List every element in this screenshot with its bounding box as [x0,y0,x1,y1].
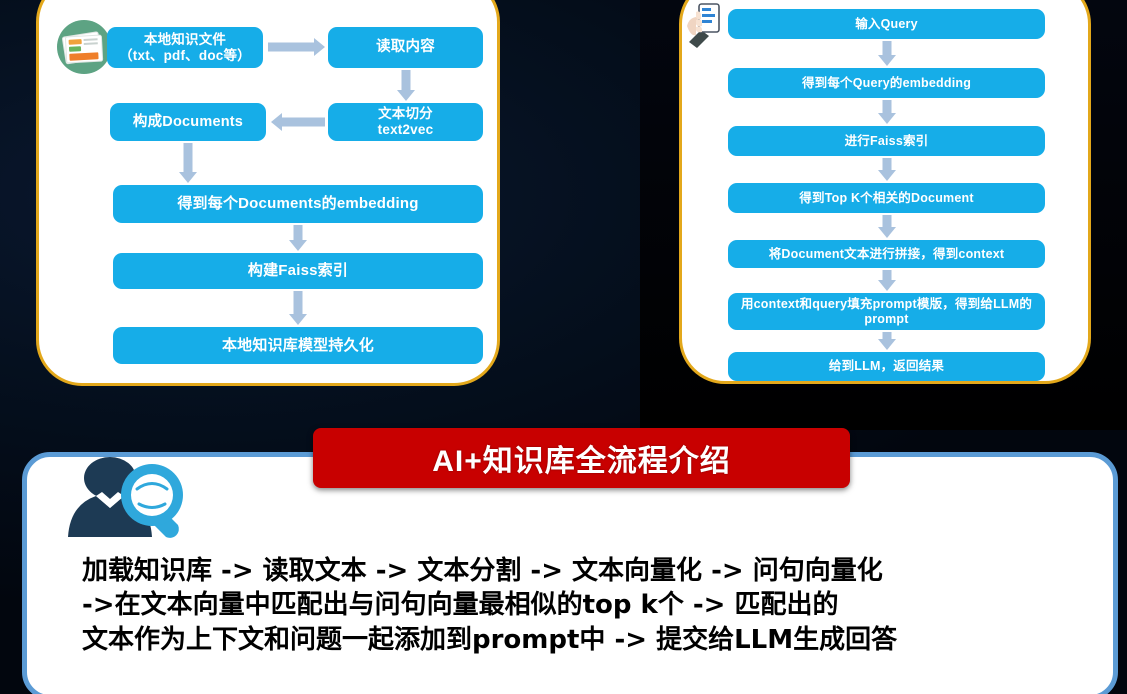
arrow-topk-to-concat-icon [878,215,896,238]
flow-box-label: 文本切分 text2vec [378,106,434,137]
flow-box-topk-documents[interactable]: 得到Top K个相关的Document [728,183,1045,213]
flow-box-text-split[interactable]: 文本切分 text2vec [328,103,483,141]
title-banner: AI+知识库全流程介绍 [313,428,850,488]
flow-box-label: 得到Top K个相关的Document [799,191,973,205]
flow-box-input-query[interactable]: 输入Query [728,9,1045,39]
flow-box-fill-prompt-template[interactable]: 用context和query填充prompt模版，得到给LLM的 prompt [728,293,1045,330]
flow-box-faiss-search[interactable]: 进行Faiss索引 [728,126,1045,156]
flow-box-local-knowledge-files[interactable]: 本地知识文件 （txt、pdf、doc等） [107,27,263,68]
flow-box-label: 进行Faiss索引 [845,134,929,148]
flow-box-label: 得到每个Query的embedding [802,76,971,90]
arrow-embedding-to-faiss-icon [289,225,307,251]
flow-box-documents-embedding[interactable]: 得到每个Documents的embedding [113,185,483,223]
arrow-read-to-split-icon [397,70,415,101]
arrow-faiss-to-topk-icon [878,158,896,181]
arrow-split-to-documents-icon [271,113,325,131]
flow-box-persist-model[interactable]: 本地知识库模型持久化 [113,327,483,364]
flow-box-label: 将Document文本进行拼接，得到context [769,247,1005,261]
arrow-files-to-read-icon [268,38,325,56]
flow-box-label: 得到每个Documents的embedding [177,195,418,212]
flow-box-build-documents[interactable]: 构成Documents [110,103,266,141]
flow-box-label: 构建Faiss索引 [248,262,348,279]
flow-box-concat-context[interactable]: 将Document文本进行拼接，得到context [728,240,1045,268]
flow-box-build-faiss-index[interactable]: 构建Faiss索引 [113,253,483,289]
arrow-prompt-to-llm-icon [878,332,896,350]
arrow-concat-to-prompt-icon [878,270,896,291]
flow-box-label: 输入Query [855,17,918,31]
documents-stack-icon [55,18,113,76]
flow-box-label: 本地知识库模型持久化 [222,337,374,354]
flow-box-label: 用context和query填充prompt模版，得到给LLM的 prompt [741,297,1032,326]
flow-box-label: 读取内容 [376,39,435,56]
flow-box-read-content[interactable]: 读取内容 [328,27,483,68]
flow-box-label: 本地知识文件 （txt、pdf、doc等） [119,32,251,63]
arrow-documents-to-embedding-icon [179,143,197,183]
arrow-faiss-to-persist-icon [289,291,307,325]
arrow-query-to-embedding-icon [878,41,896,66]
person-magnifier-icon [52,455,220,543]
flow-box-query-embedding[interactable]: 得到每个Query的embedding [728,68,1045,98]
page-title: AI+知识库全流程介绍 [432,436,731,480]
flow-box-label: 给到LLM，返回结果 [829,359,944,373]
slide-canvas: 本地知识文件 （txt、pdf、doc等） 读取内容 文本切分 text2vec… [0,0,1127,694]
flow-box-label: 构成Documents [133,114,243,131]
arrow-embedding-to-faiss-icon [878,100,896,124]
summary-text: 加载知识库 -> 读取文本 -> 文本分割 -> 文本向量化 -> 问句向量化 … [82,554,1082,657]
flow-box-send-to-llm[interactable]: 给到LLM，返回结果 [728,352,1045,381]
